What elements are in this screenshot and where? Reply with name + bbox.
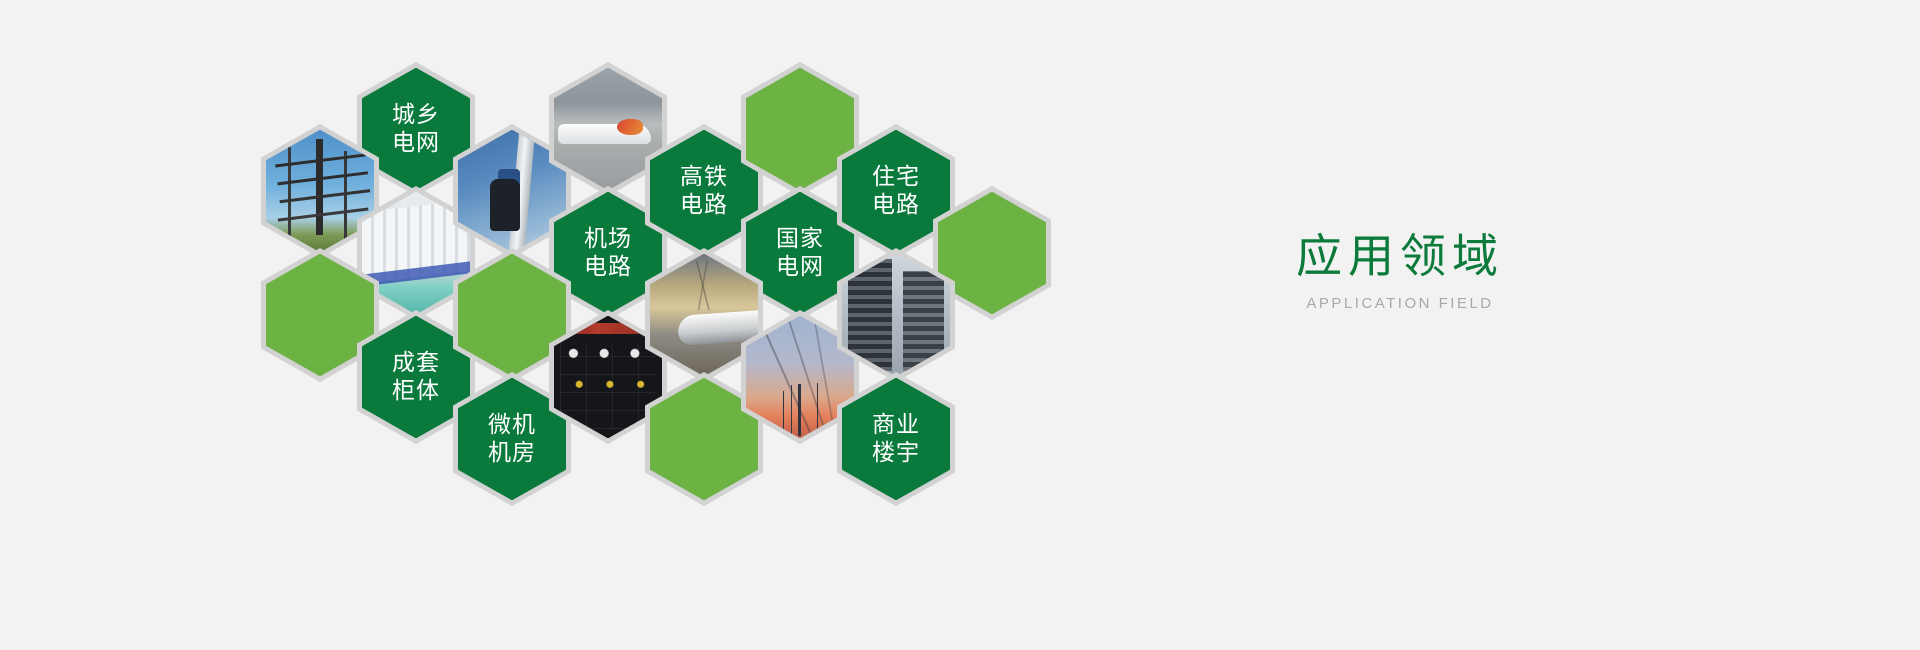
cell-airport-circuit-label: 机场 电路 (584, 225, 632, 281)
page-subtitle: APPLICATION FIELD (1140, 294, 1660, 314)
cell-state-grid-label: 国家 电网 (776, 225, 824, 281)
cell-highspeed-rail-label: 高铁 电路 (680, 163, 728, 219)
cell-photo-building-inner (842, 254, 950, 377)
residential-towers-photo (842, 254, 950, 377)
cell-complete-cabinet-label: 成套 柜体 (392, 349, 440, 405)
cell-commercial-inner: 商业 楼宇 (842, 378, 950, 501)
cell-commercial-label: 商业 楼宇 (872, 411, 920, 467)
title-block: 应用领域 APPLICATION FIELD (1140, 228, 1660, 314)
cell-microcomputer-label: 微机 机房 (488, 411, 536, 467)
cell-urban-rural-grid-label: 城乡 电网 (392, 101, 440, 157)
application-field-banner: 城乡 电网机场 电路高铁 电路国家 电网住宅 电路成套 柜体微机 机房商业 楼宇… (0, 0, 1920, 650)
hexagon-cluster: 城乡 电网机场 电路高铁 电路国家 电网住宅 电路成套 柜体微机 机房商业 楼宇 (0, 0, 1120, 650)
cell-residential-label: 住宅 电路 (872, 163, 920, 219)
page-title: 应用领域 (1140, 228, 1660, 284)
